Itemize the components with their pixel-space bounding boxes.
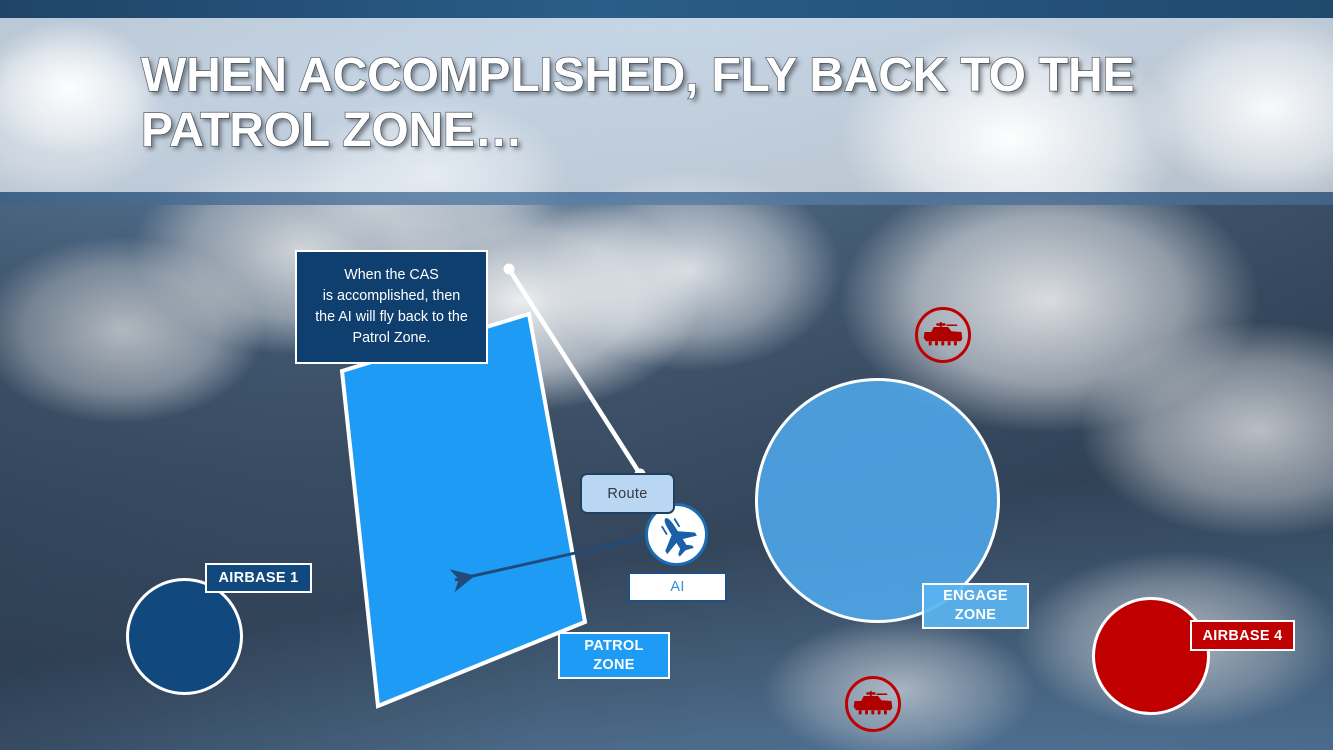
- armored-vehicle-glyph-1: [922, 321, 964, 349]
- airbase-1-marker[interactable]: [126, 578, 243, 695]
- patrol-zone-shape[interactable]: [342, 314, 585, 706]
- callout-textbox[interactable]: When the CAS is accomplished, then the A…: [295, 250, 488, 364]
- slide-canvas: WHEN ACCOMPLISHED, FLY BACK TO THE PATRO…: [0, 0, 1333, 750]
- airbase-4-marker[interactable]: [1092, 597, 1210, 715]
- airbase-4-label[interactable]: AIRBASE 4: [1190, 620, 1295, 651]
- patrol-zone-label[interactable]: PATROL ZONE: [558, 632, 670, 679]
- route-label[interactable]: Route: [580, 473, 675, 514]
- airbase-1-label[interactable]: AIRBASE 1: [205, 563, 312, 593]
- armored-vehicle-glyph-2: [852, 690, 894, 718]
- engage-zone-label[interactable]: ENGAGE ZONE: [922, 583, 1029, 629]
- ai-aircraft-label[interactable]: AI: [628, 572, 727, 602]
- fighter-jet-glyph: [654, 512, 700, 558]
- leader-line-start-dot: [504, 264, 515, 275]
- armored-vehicle-icon-2[interactable]: [845, 676, 901, 732]
- armored-vehicle-icon-1[interactable]: [915, 307, 971, 363]
